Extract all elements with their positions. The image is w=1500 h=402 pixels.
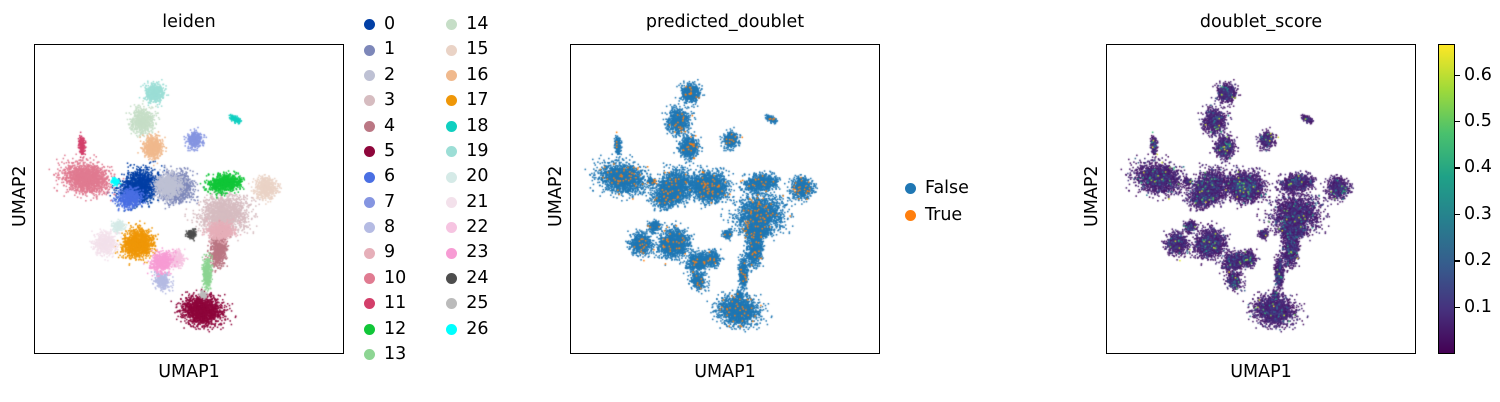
- x-axis-label-predicted-doublet: UMAP1: [570, 362, 880, 382]
- legend-swatch-icon: [364, 19, 375, 30]
- x-axis-label-leiden: UMAP1: [34, 362, 344, 382]
- legend-item-label: 26: [466, 321, 488, 339]
- legend-item-cluster-8[interactable]: 8: [364, 215, 406, 240]
- legend-item-cluster-13[interactable]: 13: [364, 342, 406, 367]
- legend-item-cluster-19[interactable]: 19: [446, 139, 488, 164]
- panel-title-leiden: leiden: [34, 12, 344, 32]
- legend-item-label: 23: [466, 244, 488, 262]
- legend-swatch-icon: [364, 298, 375, 309]
- legend-item-cluster-15[interactable]: 15: [446, 37, 488, 62]
- panel-title-doublet-score: doublet_score: [1106, 12, 1416, 32]
- legend-swatch-icon: [364, 121, 375, 132]
- legend-item-cluster-0[interactable]: 0: [364, 12, 406, 37]
- legend-item-label: 16: [466, 67, 488, 85]
- predicted-doublet-legend: FalseTrue: [905, 175, 969, 229]
- legend-swatch-icon: [446, 248, 457, 259]
- legend-item-cluster-4[interactable]: 4: [364, 114, 406, 139]
- colorbar-tick-label: 0.5: [1464, 113, 1492, 131]
- legend-swatch-icon: [364, 146, 375, 157]
- legend-item-label: 22: [466, 219, 488, 237]
- leiden-legend-column-0: 012345678910111213: [364, 12, 406, 367]
- legend-swatch-icon: [446, 95, 457, 106]
- legend-item-label: 5: [384, 143, 395, 161]
- legend-swatch-icon: [446, 146, 457, 157]
- legend-item-cluster-11[interactable]: 11: [364, 291, 406, 316]
- legend-item-false[interactable]: False: [905, 175, 969, 202]
- legend-swatch-icon: [446, 298, 457, 309]
- legend-item-cluster-18[interactable]: 18: [446, 114, 488, 139]
- scatter-canvas-predicted-doublet: [571, 45, 880, 354]
- legend-item-cluster-6[interactable]: 6: [364, 164, 406, 189]
- legend-item-label: 10: [384, 270, 406, 288]
- legend-item-label: 0: [384, 16, 395, 34]
- legend-item-cluster-24[interactable]: 24: [446, 266, 488, 291]
- legend-swatch-icon: [446, 172, 457, 183]
- legend-item-cluster-14[interactable]: 14: [446, 12, 488, 37]
- legend-item-label: 1: [384, 41, 395, 59]
- legend-item-cluster-22[interactable]: 22: [446, 215, 488, 240]
- legend-item-true[interactable]: True: [905, 202, 969, 229]
- colorbar-tick-label: 0.2: [1464, 252, 1492, 270]
- legend-item-label: 8: [384, 219, 395, 237]
- colorbar-ticks: 0.10.20.30.40.50.6: [1455, 44, 1500, 354]
- colorbar-tick-mark: [1455, 214, 1460, 215]
- legend-item-cluster-20[interactable]: 20: [446, 164, 488, 189]
- legend-swatch-icon: [364, 273, 375, 284]
- y-axis-label-doublet-score: UMAP2: [1082, 165, 1102, 227]
- legend-item-cluster-21[interactable]: 21: [446, 190, 488, 215]
- legend-item-cluster-23[interactable]: 23: [446, 241, 488, 266]
- umap-figure: leiden UMAP2 UMAP1 012345678910111213141…: [0, 0, 1500, 402]
- legend-swatch-icon: [364, 349, 375, 360]
- legend-item-label: 6: [384, 168, 395, 186]
- legend-item-cluster-3[interactable]: 3: [364, 88, 406, 113]
- legend-swatch-icon: [446, 324, 457, 335]
- legend-swatch-icon: [446, 45, 457, 56]
- legend-swatch-icon: [364, 222, 375, 233]
- colorbar-tick-label: 0.1: [1464, 299, 1492, 317]
- colorbar-tick-mark: [1455, 307, 1460, 308]
- legend-item-label: True: [925, 207, 962, 225]
- legend-swatch-icon: [364, 324, 375, 335]
- legend-item-cluster-1[interactable]: 1: [364, 37, 406, 62]
- leiden-legend-column-1: 14151617181920212223242526: [446, 12, 488, 367]
- colorbar-tick-mark: [1455, 260, 1460, 261]
- colorbar-tick-0.5: 0.5: [1455, 113, 1492, 131]
- panel-title-predicted-doublet: predicted_doublet: [570, 12, 880, 32]
- legend-item-label: False: [925, 180, 969, 198]
- scatter-canvas-doublet-score: [1107, 45, 1416, 354]
- scatter-canvas-leiden: [35, 45, 344, 354]
- legend-item-label: 7: [384, 194, 395, 212]
- legend-item-cluster-9[interactable]: 9: [364, 241, 406, 266]
- legend-swatch-icon: [446, 19, 457, 30]
- axes-doublet-score: [1106, 44, 1416, 354]
- colorbar-tick-mark: [1455, 75, 1460, 76]
- colorbar-tick-0.4: 0.4: [1455, 159, 1492, 177]
- legend-swatch-icon: [364, 70, 375, 81]
- legend-item-label: 13: [384, 346, 406, 364]
- colorbar-tick-0.1: 0.1: [1455, 299, 1492, 317]
- axes-leiden: [34, 44, 344, 354]
- y-axis-label-predicted-doublet: UMAP2: [546, 165, 566, 227]
- y-axis-label-leiden: UMAP2: [10, 165, 30, 227]
- legend-item-label: 9: [384, 244, 395, 262]
- x-axis-label-doublet-score: UMAP1: [1106, 362, 1416, 382]
- colorbar-tick-0.6: 0.6: [1455, 67, 1492, 85]
- legend-item-label: 25: [466, 295, 488, 313]
- legend-swatch-icon: [446, 273, 457, 284]
- legend-item-cluster-2[interactable]: 2: [364, 63, 406, 88]
- legend-item-label: 18: [466, 118, 488, 136]
- colorbar-tick-mark: [1455, 167, 1460, 168]
- legend-swatch-icon: [905, 183, 916, 194]
- legend-item-label: 21: [466, 194, 488, 212]
- colorbar-gradient: [1438, 44, 1455, 354]
- legend-item-cluster-12[interactable]: 12: [364, 317, 406, 342]
- legend-item-label: 12: [384, 321, 406, 339]
- colorbar-tick-label: 0.3: [1464, 206, 1492, 224]
- legend-swatch-icon: [905, 210, 916, 221]
- legend-item-label: 17: [466, 92, 488, 110]
- legend-item-cluster-17[interactable]: 17: [446, 88, 488, 113]
- legend-swatch-icon: [446, 197, 457, 208]
- legend-item-label: 11: [384, 295, 406, 313]
- legend-item-cluster-16[interactable]: 16: [446, 63, 488, 88]
- doublet-score-colorbar: 0.10.20.30.40.50.6: [1438, 44, 1500, 354]
- legend-item-label: 2: [384, 67, 395, 85]
- colorbar-tick-0.2: 0.2: [1455, 252, 1492, 270]
- legend-item-cluster-7[interactable]: 7: [364, 190, 406, 215]
- legend-swatch-icon: [364, 197, 375, 208]
- legend-item-label: 19: [466, 143, 488, 161]
- legend-item-label: 24: [466, 270, 488, 288]
- legend-swatch-icon: [364, 95, 375, 106]
- colorbar-tick-label: 0.6: [1464, 67, 1492, 85]
- legend-item-cluster-5[interactable]: 5: [364, 139, 406, 164]
- leiden-legend: 0123456789101112131415161718192021222324…: [364, 12, 529, 367]
- colorbar-tick-mark: [1455, 121, 1460, 122]
- legend-item-label: 3: [384, 92, 395, 110]
- legend-item-label: 4: [384, 118, 395, 136]
- legend-item-label: 20: [466, 168, 488, 186]
- legend-swatch-icon: [446, 70, 457, 81]
- legend-swatch-icon: [364, 248, 375, 259]
- legend-swatch-icon: [446, 222, 457, 233]
- legend-item-cluster-25[interactable]: 25: [446, 291, 488, 316]
- colorbar-tick-0.3: 0.3: [1455, 206, 1492, 224]
- legend-item-cluster-10[interactable]: 10: [364, 266, 406, 291]
- legend-swatch-icon: [446, 121, 457, 132]
- legend-item-cluster-26[interactable]: 26: [446, 317, 488, 342]
- colorbar-tick-label: 0.4: [1464, 159, 1492, 177]
- axes-predicted-doublet: [570, 44, 880, 354]
- legend-item-label: 15: [466, 41, 488, 59]
- legend-swatch-icon: [364, 172, 375, 183]
- legend-item-label: 14: [466, 16, 488, 34]
- legend-swatch-icon: [364, 45, 375, 56]
